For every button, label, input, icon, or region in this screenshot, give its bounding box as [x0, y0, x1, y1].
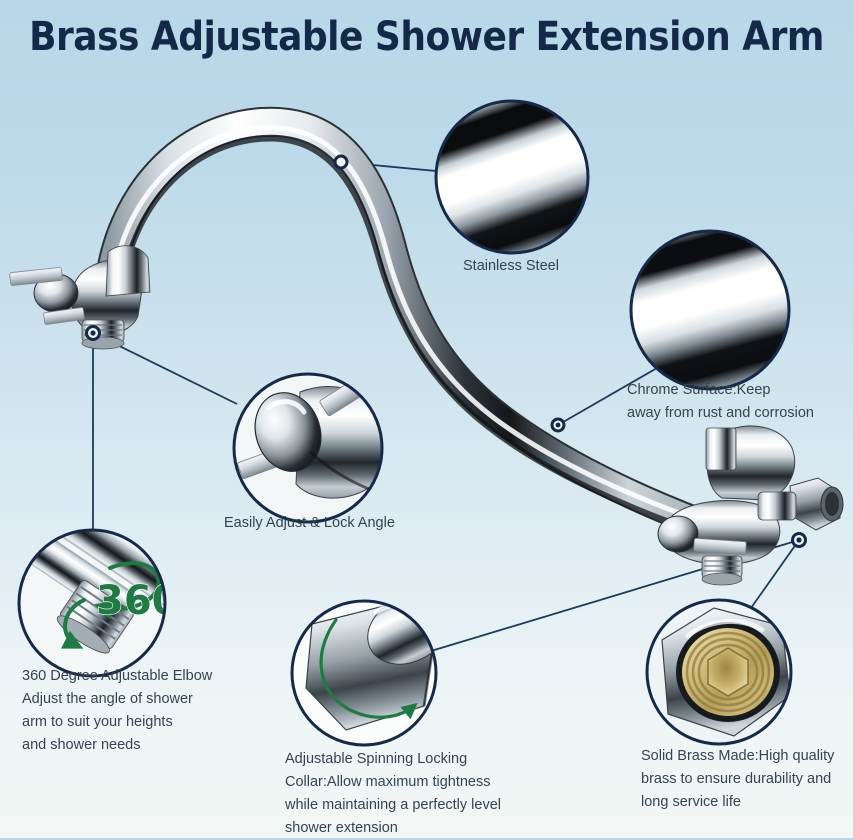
right-nut-neck — [758, 492, 796, 520]
callout-stainless-steel[interactable] — [406, 71, 617, 282]
right-elbow-square-boss — [706, 428, 736, 470]
caption-lock-angle: Easily Adjust & Lock Angle — [224, 512, 395, 535]
caption-stainless-steel: Stainless Steel — [463, 255, 559, 278]
callout-dot-right-elbow[interactable] — [793, 534, 806, 547]
callout-dot-stainless[interactable] — [335, 156, 347, 168]
callout-360-elbow[interactable]: 360° — [0, 474, 200, 676]
left-elbow-riser — [106, 246, 150, 296]
callout-dot-left-elbow[interactable] — [87, 327, 100, 340]
left-elbow-assembly — [10, 246, 150, 349]
right-elbow-cap — [658, 516, 698, 552]
caption-solid-brass: Solid Brass Made:High quality brass to e… — [641, 745, 834, 814]
right-hex-nut — [790, 478, 843, 530]
caption-chrome-surface: Chrome Surface:Keep away from rust and c… — [627, 379, 814, 425]
badge-360: 360° — [96, 578, 200, 624]
right-threaded-outlet — [702, 556, 742, 585]
callout-stainless-steel-image — [406, 71, 617, 282]
callout-360-elbow-image: 360° — [0, 474, 200, 676]
callout-solid-brass[interactable] — [647, 600, 791, 744]
caption-spinning-collar: Adjustable Spinning Locking Collar:Allow… — [285, 748, 501, 840]
caption-360-elbow: 360 Degree Adjustable Elbow Adjust the a… — [22, 665, 212, 757]
callout-dot-chrome[interactable] — [552, 419, 564, 431]
callout-lock-angle[interactable] — [234, 374, 384, 522]
callout-spinning-collar[interactable] — [292, 583, 460, 745]
